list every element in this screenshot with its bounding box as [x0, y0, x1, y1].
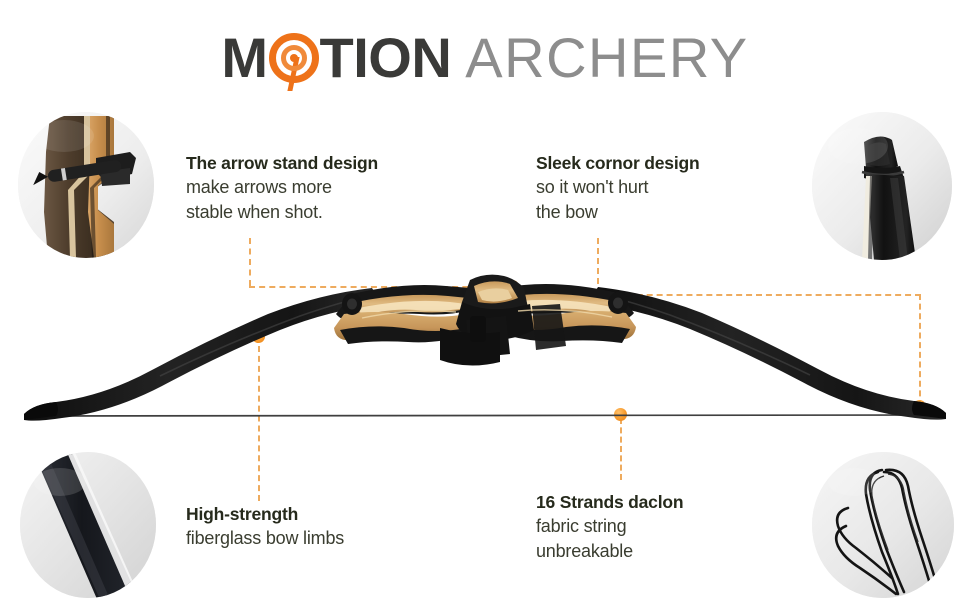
- callout-arrow-stand: The arrow stand design make arrows more …: [186, 151, 378, 225]
- photo-bowstring: [812, 452, 954, 598]
- callout-sleek-corner-line-1: so it won't hurt: [536, 175, 699, 200]
- recurve-bow-illustration: [0, 258, 970, 433]
- logo-text-archery: ARCHERY: [465, 30, 748, 86]
- brand-logo: M TION ARCHERY: [0, 22, 970, 94]
- callout-arrow-stand-title: The arrow stand design: [186, 151, 378, 175]
- target-bullseye-icon: [269, 33, 319, 83]
- callout-arrow-stand-line-2: stable when shot.: [186, 200, 378, 225]
- callout-high-strength: High-strength fiberglass bow limbs: [186, 502, 344, 551]
- logo-text-m: M: [221, 30, 267, 86]
- callout-arrow-stand-line-1: make arrows more: [186, 175, 378, 200]
- callout-sleek-corner-line-2: the bow: [536, 200, 699, 225]
- callout-strands-line-2: unbreakable: [536, 539, 683, 564]
- callout-high-strength-title: High-strength: [186, 502, 344, 526]
- callout-sleek-corner: Sleek cornor design so it won't hurt the…: [536, 151, 699, 225]
- photo-fiberglass-limb: [20, 452, 156, 598]
- callout-sleek-corner-title: Sleek cornor design: [536, 151, 699, 175]
- callout-strands-dacron: 16 Strands daclon fabric string unbreaka…: [536, 490, 683, 564]
- callout-strands-title: 16 Strands daclon: [536, 490, 683, 514]
- photo-arrow-stand: [18, 112, 154, 258]
- callout-strands-line-1: fabric string: [536, 514, 683, 539]
- logo-text-tion: TION: [320, 30, 452, 86]
- photo-limb-tip-corner: [812, 112, 952, 260]
- infographic-page: M TION ARCHERY: [0, 0, 970, 600]
- callout-high-strength-line-1: fiberglass bow limbs: [186, 526, 344, 551]
- target-center-dot: [290, 54, 298, 62]
